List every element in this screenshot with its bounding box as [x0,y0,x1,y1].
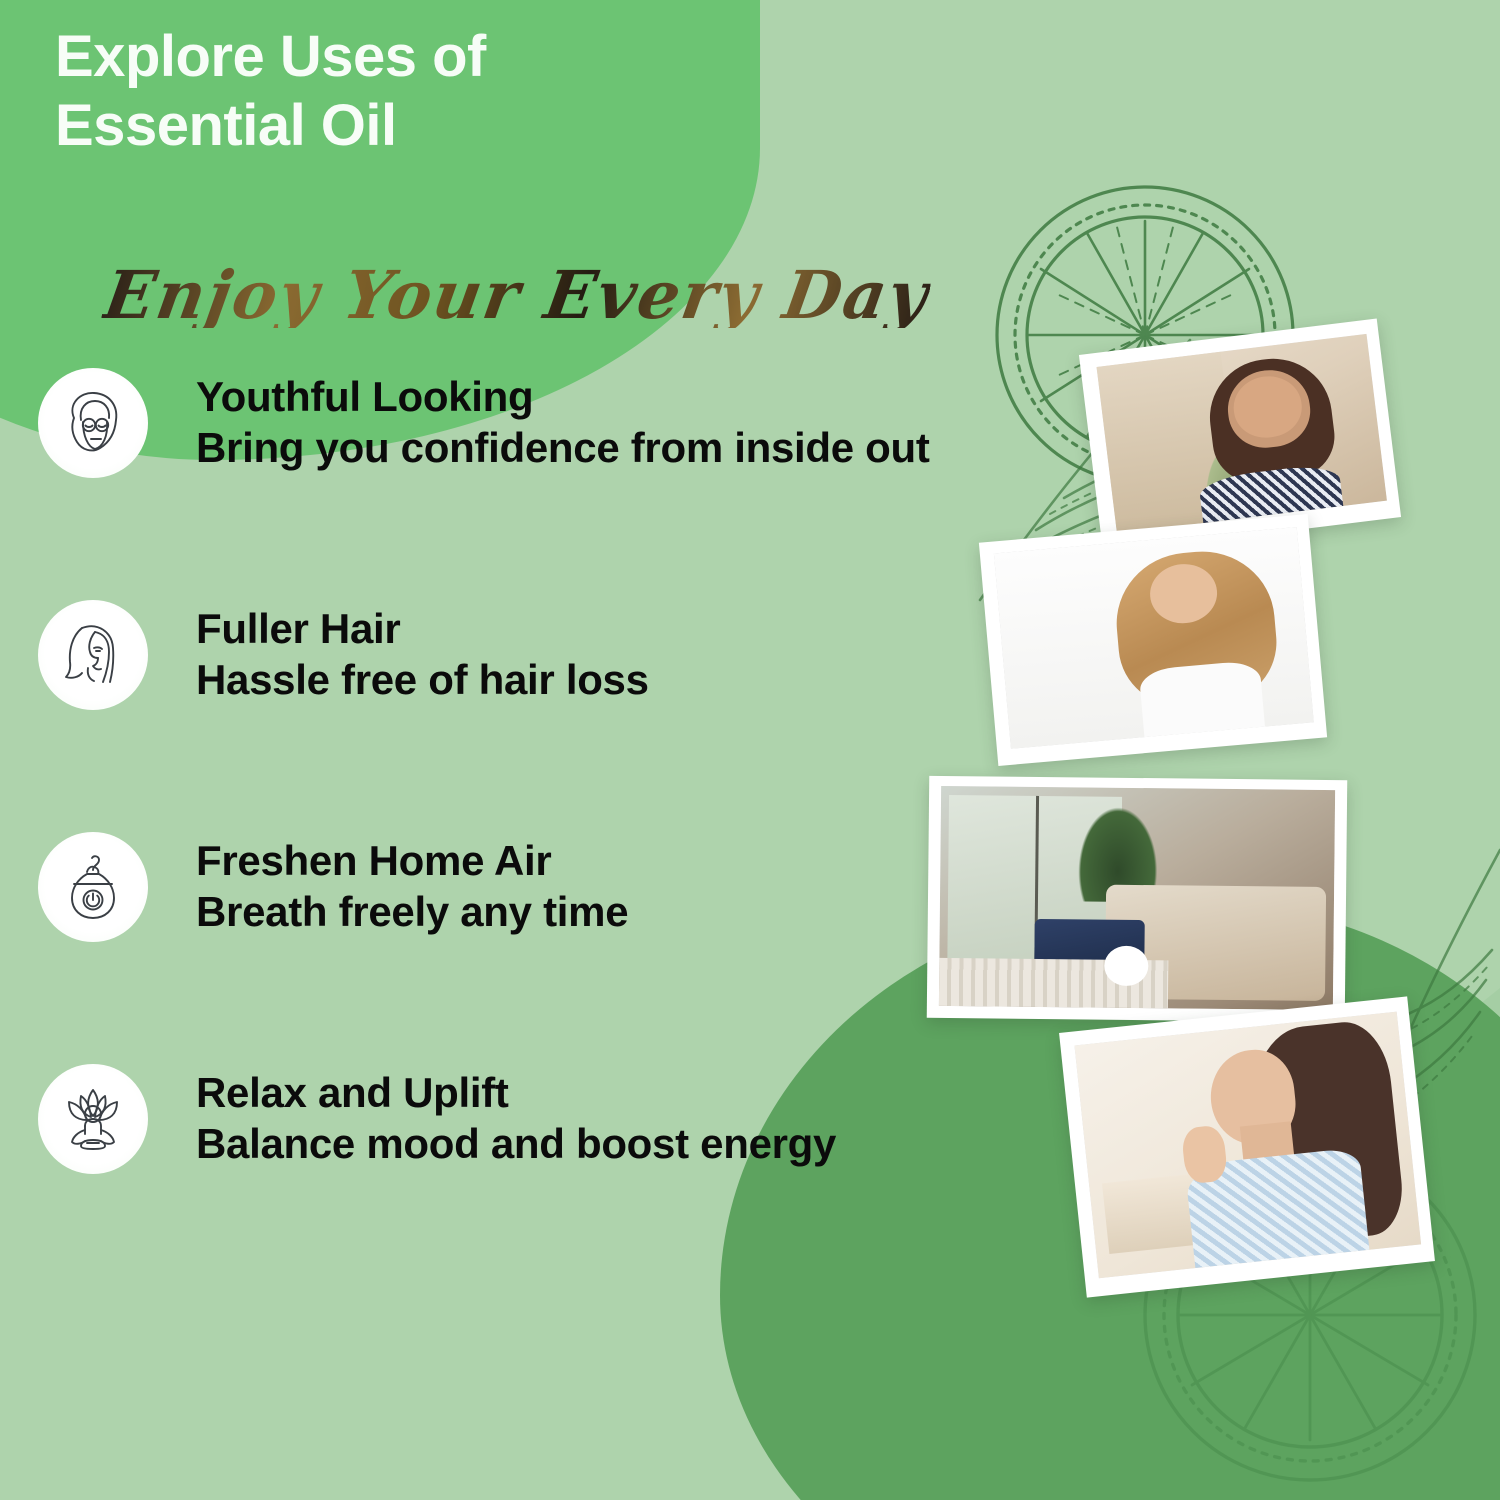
feature-subtitle: Hassle free of hair loss [196,657,649,702]
page-title-line1: Explore Uses of [55,24,486,89]
feature-text-fuller-hair: Fuller Hair Hassle free of hair loss [196,606,649,703]
feature-subtitle: Bring you confidence from inside out [196,425,930,470]
feature-subtitle: Breath freely any time [196,889,628,934]
feature-list: Youthful Looking Bring you confidence fr… [0,368,1080,1296]
photo-image-area [939,786,1335,1010]
script-subtitle: Enjoy Your Every Day [100,262,934,328]
feature-text-youthful-looking: Youthful Looking Bring you confidence fr… [196,374,930,471]
photo-long-wavy-hair [979,514,1327,766]
feature-title: Freshen Home Air [196,838,628,883]
feature-subtitle: Balance mood and boost energy [196,1121,836,1166]
page-title-line2: Essential Oil [55,91,695,160]
photo-living-room-diffuser [927,776,1348,1022]
lotus-meditation-icon [38,1064,148,1174]
feature-title: Youthful Looking [196,374,930,419]
feature-text-relax-and-uplift: Relax and Uplift Balance mood and boost … [196,1070,836,1167]
infographic-canvas: Explore Uses of Essential Oil Enjoy Your… [0,0,1500,1500]
photo-woman-applying-fragrance [1059,996,1435,1297]
long-hair-profile-icon [38,600,148,710]
feature-title: Relax and Uplift [196,1070,836,1115]
page-title: Explore Uses of Essential Oil [55,22,695,160]
photo-image-area [1097,334,1387,534]
feature-item-fuller-hair: Fuller Hair Hassle free of hair loss [0,600,1080,832]
feature-text-freshen-home-air: Freshen Home Air Breath freely any time [196,838,628,935]
feature-item-youthful-looking: Youthful Looking Bring you confidence fr… [0,368,1080,600]
photo-image-area [994,527,1314,749]
face-mask-icon [38,368,148,478]
feature-item-freshen-home-air: Freshen Home Air Breath freely any time [0,832,1080,1064]
feature-item-relax-and-uplift: Relax and Uplift Balance mood and boost … [0,1064,1080,1296]
feature-title: Fuller Hair [196,606,649,651]
aroma-diffuser-icon [38,832,148,942]
photo-image-area [1074,1012,1421,1279]
photo-smiling-woman [1079,318,1401,553]
